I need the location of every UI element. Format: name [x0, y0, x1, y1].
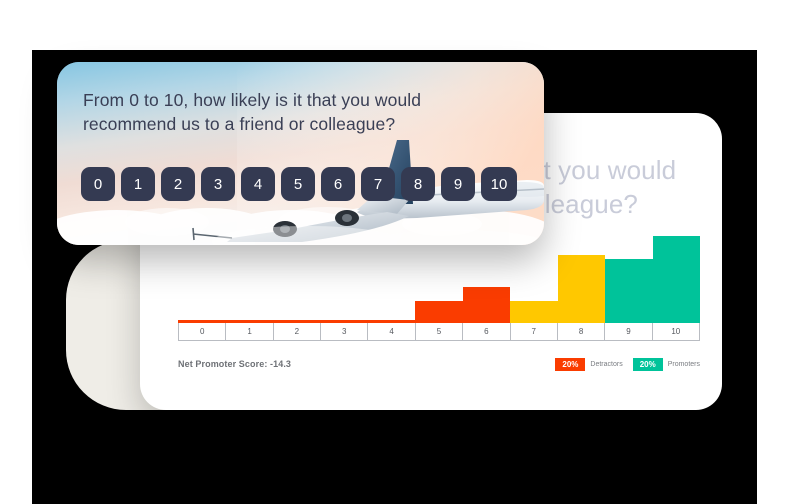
chart-axis-cell-8: 8 [558, 323, 605, 340]
chart-bar-7 [510, 301, 557, 323]
legend-item-detractors: 20%Detractors [555, 358, 622, 371]
nps-scale-button-8[interactable]: 8 [401, 167, 435, 201]
nps-scale-button-6[interactable]: 6 [321, 167, 355, 201]
legend-chip-promoters: 20% [633, 358, 663, 371]
chart-axis-cell-4: 4 [368, 323, 415, 340]
legend-item-promoters: 20%Promoters [633, 358, 700, 371]
chart-legend: 20%Detractors20%Promoters [555, 358, 700, 371]
chart-bar-5 [415, 301, 462, 323]
net-promoter-score-label: Net Promoter Score: -14.3 [178, 359, 291, 369]
chart-bar-6 [463, 287, 510, 323]
chart-axis-cell-10: 10 [653, 323, 699, 340]
nps-scale-button-3[interactable]: 3 [201, 167, 235, 201]
chart-axis-cell-1: 1 [226, 323, 273, 340]
chart-footer: Net Promoter Score: -14.3 20%Detractors2… [178, 356, 700, 372]
chart-bar-9 [605, 259, 652, 323]
chart-axis-cell-5: 5 [416, 323, 463, 340]
nps-scale-button-0[interactable]: 0 [81, 167, 115, 201]
nps-scale-buttons[interactable]: 012345678910 [81, 167, 517, 201]
nps-scale-button-9[interactable]: 9 [441, 167, 475, 201]
survey-question-text: From 0 to 10, how likely is it that you … [83, 88, 513, 136]
chart-axis-cell-7: 7 [511, 323, 558, 340]
nps-scale-button-4[interactable]: 4 [241, 167, 275, 201]
chart-axis-cell-3: 3 [321, 323, 368, 340]
chart-axis-cell-0: 0 [179, 323, 226, 340]
nps-scale-button-7[interactable]: 7 [361, 167, 395, 201]
legend-label-detractors: Detractors [590, 361, 622, 368]
survey-card: From 0 to 10, how likely is it that you … [57, 62, 544, 245]
chart-x-axis: 012345678910 [178, 323, 700, 341]
screenshot-stage: From 0 to 10, how likely is it that you … [0, 0, 788, 504]
legend-chip-detractors: 20% [555, 358, 585, 371]
chart-axis-cell-6: 6 [463, 323, 510, 340]
nps-scale-button-5[interactable]: 5 [281, 167, 315, 201]
legend-label-promoters: Promoters [668, 361, 700, 368]
nps-scale-button-10[interactable]: 10 [481, 167, 517, 201]
nps-scale-button-1[interactable]: 1 [121, 167, 155, 201]
chart-axis-cell-9: 9 [605, 323, 652, 340]
chart-axis-cell-2: 2 [274, 323, 321, 340]
chart-bar-8 [558, 255, 605, 323]
nps-scale-button-2[interactable]: 2 [161, 167, 195, 201]
chart-bar-10 [653, 236, 700, 323]
